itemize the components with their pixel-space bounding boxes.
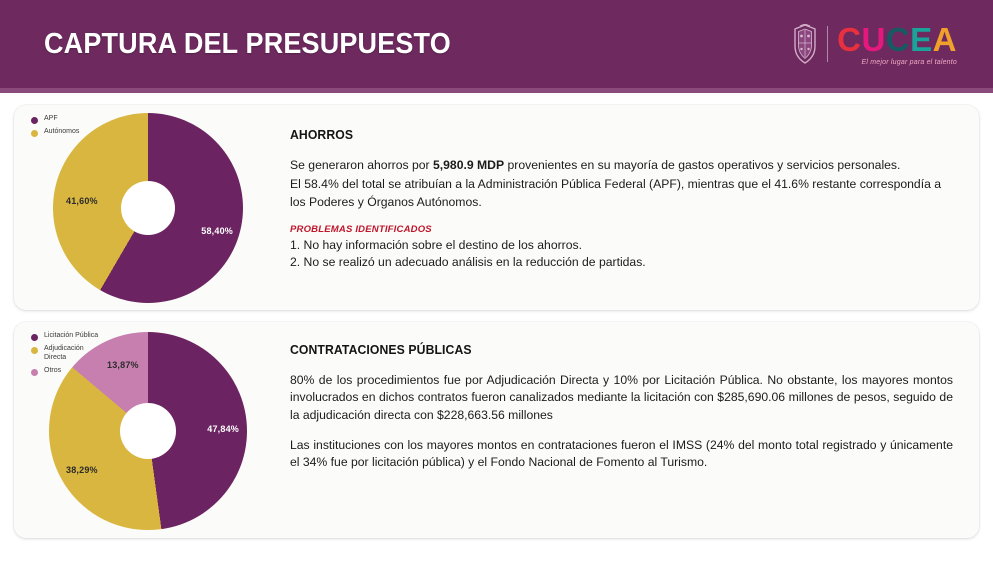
legend-label: Adjudicación Directa — [44, 345, 84, 363]
cucea-tagline: El mejor lugar para el talento — [862, 59, 958, 66]
text-run: provenientes en su mayoría de gastos ope… — [504, 158, 900, 172]
legend-contrataciones: Licitación Pública Adjudicación Directa … — [31, 332, 98, 380]
cucea-logo: CUCEA El mejor lugar para el talento — [792, 23, 971, 66]
legend-item: Adjudicación Directa — [31, 345, 98, 363]
problems-heading: PROBLEMAS IDENTIFICADOS — [290, 224, 953, 235]
slice-label: 58,40% — [201, 226, 233, 236]
legend-swatch-icon — [31, 117, 38, 124]
donut-hole — [121, 181, 175, 235]
cucea-letter-4: E — [910, 23, 933, 56]
paragraph: El 58.4% del total se atribuían a la Adm… — [290, 176, 953, 211]
paragraph: 80% de los procedimientos fue por Adjudi… — [290, 372, 953, 424]
slice-label: 47,84% — [207, 424, 239, 434]
slice-label: 38,29% — [66, 465, 98, 475]
legend-swatch-icon — [31, 334, 38, 341]
legend-item: Otros — [31, 367, 98, 376]
text-run-bold: 5,980.9 MDP — [433, 158, 504, 172]
cucea-letter-3: C — [886, 23, 910, 56]
slide-canvas: APF Autónomos 58,40% 41,60% AHORROS Se g… — [0, 93, 993, 561]
page-header: CAPTURA DEL PRESUPUESTO CUCEA El mejor l… — [0, 0, 993, 88]
chart-zone-ahorros: APF Autónomos 58,40% 41,60% — [14, 105, 282, 310]
legend-swatch-icon — [31, 347, 38, 354]
paragraph-spacer — [290, 426, 953, 437]
text-zone-contrataciones: CONTRATACIONES PÚBLICAS 80% de los proce… — [282, 322, 979, 474]
legend-item: Licitación Pública — [31, 332, 98, 341]
cucea-letter-1: C — [837, 23, 861, 56]
paragraph: Las instituciones con los mayores montos… — [290, 437, 953, 472]
legend-label: Licitación Pública — [44, 332, 98, 341]
legend-label: Otros — [44, 367, 61, 376]
problem-item: 2. No se realizó un adecuado análisis en… — [290, 254, 953, 271]
udg-shield-icon — [792, 24, 818, 64]
logo-divider — [827, 26, 828, 62]
cucea-wordmark: CUCEA El mejor lugar para el talento — [837, 23, 957, 66]
cucea-letter-5: A — [933, 23, 957, 56]
page-title: CAPTURA DEL PRESUPUESTO — [44, 28, 451, 61]
donut-ring: 58,40% 41,60% — [53, 113, 243, 303]
section-heading-ahorros: AHORROS — [290, 127, 913, 142]
paragraph: Se generaron ahorros por 5,980.9 MDP pro… — [290, 157, 953, 174]
legend-swatch-icon — [31, 130, 38, 137]
legend-ahorros: APF Autónomos — [31, 115, 79, 141]
cucea-letter-2: U — [861, 23, 885, 56]
cucea-letters: CUCEA — [837, 23, 957, 56]
legend-label: Autónomos — [44, 128, 79, 137]
slice-label: 41,60% — [66, 196, 98, 206]
problem-item: 1. No hay información sobre el destino d… — [290, 237, 953, 254]
text-zone-ahorros: AHORROS Se generaron ahorros por 5,980.9… — [282, 105, 979, 271]
legend-item: Autónomos — [31, 128, 79, 137]
chart-zone-contrataciones: Licitación Pública Adjudicación Directa … — [14, 322, 282, 538]
legend-label: APF — [44, 115, 58, 124]
legend-item: APF — [31, 115, 79, 124]
text-run: Se generaron ahorros por — [290, 158, 433, 172]
section-heading-contrataciones: CONTRATACIONES PÚBLICAS — [290, 342, 913, 357]
card-contrataciones: Licitación Pública Adjudicación Directa … — [14, 322, 979, 538]
legend-swatch-icon — [31, 369, 38, 376]
donut-hole — [120, 403, 176, 459]
slice-label: 13,87% — [107, 360, 139, 370]
card-ahorros: APF Autónomos 58,40% 41,60% AHORROS Se g… — [14, 105, 979, 310]
donut-ahorros: 58,40% 41,60% — [53, 113, 243, 303]
